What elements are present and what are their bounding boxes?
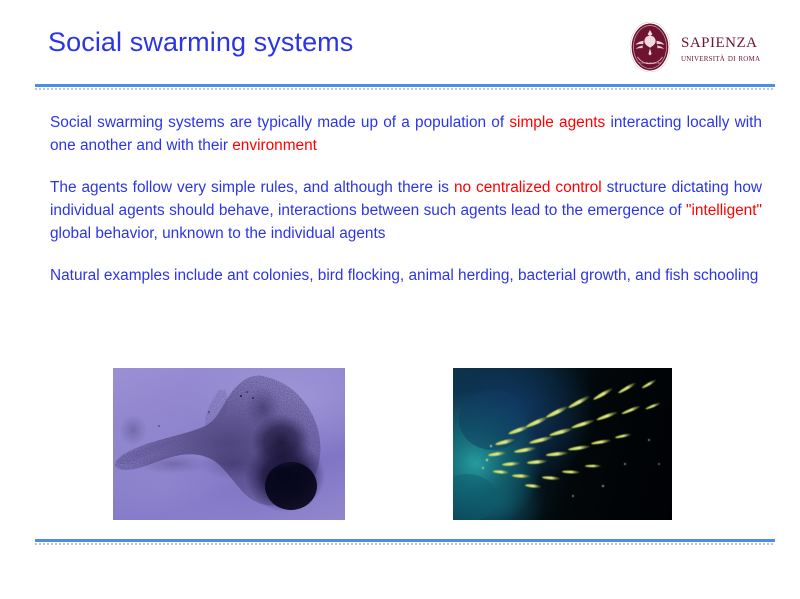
highlighted-phrase: no centralized control: [454, 179, 602, 196]
sapienza-subtitle: Università di Roma: [681, 54, 760, 65]
text-run: global behavior, unknown to the individu…: [50, 225, 385, 242]
paragraph-rules: The agents follow very simple rules, and…: [50, 177, 762, 245]
paragraph-definition: Social swarming systems are typically ma…: [50, 112, 762, 157]
header-divider-dotted: [35, 88, 775, 90]
highlighted-phrase: environment: [232, 137, 317, 154]
text-run: Natural examples include ant colonies, b…: [50, 267, 758, 284]
highlighted-phrase: simple agents: [509, 114, 605, 131]
fish-schooling-photo: [453, 368, 672, 520]
sapienza-logo: STUDIORUM Sapienza Università di Roma: [628, 20, 778, 74]
slide: Social swarming systems: [0, 0, 800, 599]
footer-divider: [35, 539, 775, 545]
sapienza-wordmark: Sapienza Università di Roma: [681, 29, 760, 65]
text-run: The agents follow very simple rules, and…: [50, 179, 454, 196]
slide-body: Social swarming systems are typically ma…: [50, 112, 762, 288]
header-divider: [35, 84, 775, 90]
paragraph-examples: Natural examples include ant colonies, b…: [50, 265, 762, 288]
svg-text:STUDIORUM: STUDIORUM: [639, 61, 661, 65]
figure-row: [0, 368, 800, 522]
sapienza-name: Sapienza: [681, 29, 760, 51]
bird-flocking-photo: [113, 368, 345, 520]
footer-divider-dotted: [35, 543, 775, 545]
page-title: Social swarming systems: [48, 27, 353, 58]
highlighted-phrase: "intelligent": [686, 202, 762, 219]
sapienza-crest-icon: STUDIORUM: [628, 21, 672, 73]
text-run: Social swarming systems are typically ma…: [50, 114, 509, 131]
